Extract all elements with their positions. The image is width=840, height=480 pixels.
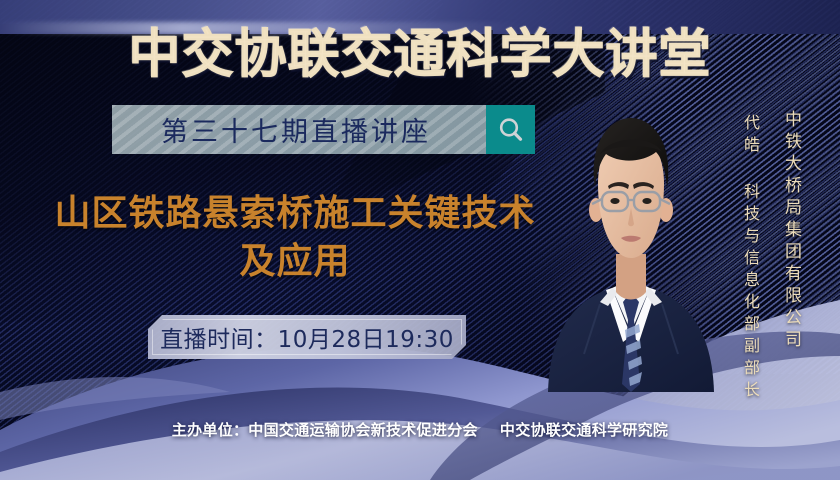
search-icon[interactable] — [486, 105, 535, 154]
livestream-poster: 中交协联交通科学大讲堂 第三十七期直播讲座 山区铁路悬索桥施工关键技术 及应用 … — [0, 0, 840, 480]
episode-banner: 第三十七期直播讲座 — [112, 105, 535, 154]
organizer-footer: 主办单位：中国交通运输协会新技术促进分会 中交协联交通科学研究院 — [0, 419, 840, 440]
speaker-name-title: 代皓 科技与信息化部副部长 — [738, 114, 762, 403]
schedule-banner: 直播时间：10月28日19:30 — [148, 315, 466, 359]
episode-label: 第三十七期直播讲座 — [112, 105, 486, 154]
speaker-portrait — [540, 92, 722, 392]
topic-title-line-1: 山区铁路悬索桥施工关键技术 — [30, 190, 560, 238]
speaker-company: 中铁大桥局集团有限公司 — [779, 110, 804, 352]
episode-banner-fill: 第三十七期直播讲座 — [112, 105, 486, 154]
schedule-label: 直播时间：10月28日19:30 — [160, 320, 454, 354]
topic-title-line-2: 及应用 — [30, 238, 560, 286]
page-title: 中交协联交通科学大讲堂 — [0, 12, 840, 87]
topic-title: 山区铁路悬索桥施工关键技术 及应用 — [30, 190, 560, 285]
